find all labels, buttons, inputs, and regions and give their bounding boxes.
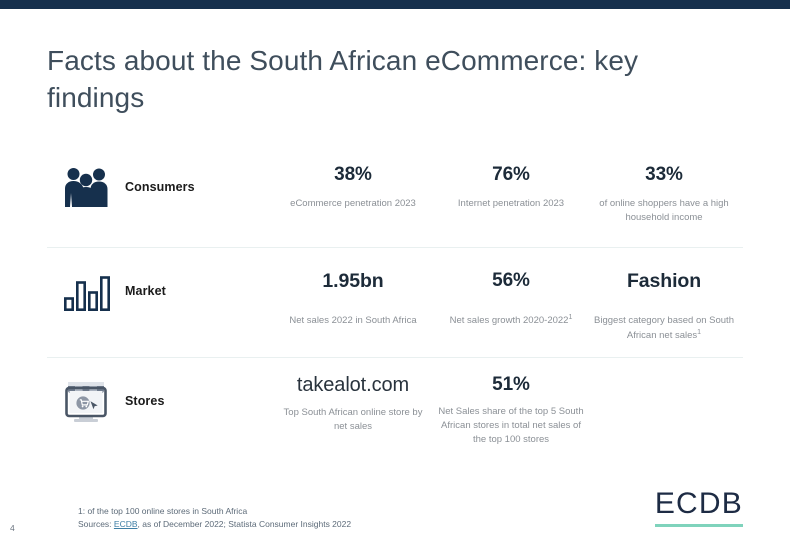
stat-cell-internet-penetration: 76% Internet penetration 2023 — [437, 152, 585, 211]
stat-cell-high-household-income: 33% of online shoppers have a high house… — [585, 152, 743, 225]
sources-line: Sources: ECDB, as of December 2022; Stat… — [78, 518, 351, 531]
stat-caption: Biggest category based on South African … — [585, 314, 743, 343]
fact-row-market: Market 1.95bn Net sales 2022 in South Af… — [47, 248, 743, 358]
stat-cell-biggest-category: Fashion Biggest category based on South … — [585, 248, 743, 343]
fact-row-stores: Stores takealot.com Top South African on… — [47, 358, 743, 462]
row-label-consumers: Consumers — [125, 180, 195, 194]
stat-caption: Internet penetration 2023 — [437, 197, 585, 211]
stat-cell-top-store: takealot.com Top South African online st… — [269, 358, 437, 434]
stat-caption: of online shoppers have a high household… — [585, 197, 743, 225]
stat-caption-footnote: 1 — [568, 314, 572, 321]
stat-value: 38% — [269, 164, 437, 186]
sources-suffix: , as of December 2022; Statista Consumer… — [138, 519, 352, 529]
fact-row-consumers: Consumers 38% eCommerce penetration 2023… — [47, 152, 743, 248]
stat-caption-text: Biggest category based on South African … — [594, 315, 734, 341]
page-number: 4 — [10, 523, 15, 533]
stat-value: 1.95bn — [269, 270, 437, 293]
stat-caption: Top South African online store by net sa… — [269, 406, 437, 434]
page-title: Facts about the South African eCommerce:… — [47, 43, 687, 117]
row-label-stores: Stores — [125, 394, 165, 408]
stat-cell-net-sales-2022: 1.95bn Net sales 2022 in South Africa — [269, 248, 437, 328]
stat-cell-ecommerce-penetration: 38% eCommerce penetration 2023 — [269, 152, 437, 211]
ecdb-logo-text: ECDB — [655, 489, 743, 519]
stat-value: 76% — [437, 164, 585, 186]
stat-caption: Net sales 2022 in South Africa — [269, 314, 437, 328]
row-label-cell-consumers: Consumers — [47, 152, 269, 208]
row-label-cell-market: Market — [47, 248, 269, 312]
stat-caption: Net sales growth 2020-20221 — [437, 313, 585, 328]
ecdb-logo-underline — [655, 524, 743, 527]
facts-table: Consumers 38% eCommerce penetration 2023… — [47, 152, 743, 462]
sources-ecdb-link[interactable]: ECDB — [114, 519, 138, 529]
stat-caption-footnote: 1 — [697, 329, 701, 336]
stat-value: 56% — [437, 270, 585, 292]
footnote-line: 1: of the top 100 online stores in South… — [78, 505, 351, 518]
footer-notes: 1: of the top 100 online stores in South… — [78, 505, 351, 531]
row-label-cell-stores: Stores — [47, 358, 269, 424]
people-group-icon — [47, 166, 125, 208]
stat-value: 51% — [437, 374, 585, 396]
stat-value: takealot.com — [269, 374, 437, 397]
stat-value: Fashion — [585, 270, 743, 293]
online-store-icon — [47, 378, 125, 424]
stat-cell-top5-share: 51% Net Sales share of the top 5 South A… — [437, 358, 585, 446]
stat-cell-net-sales-growth: 56% Net sales growth 2020-20221 — [437, 248, 585, 328]
top-accent-bar — [0, 0, 790, 9]
bar-chart-icon — [47, 270, 125, 312]
row-label-market: Market — [125, 284, 166, 298]
ecdb-logo: ECDB — [655, 489, 743, 527]
stat-value: 33% — [585, 164, 743, 186]
stat-caption: eCommerce penetration 2023 — [269, 197, 437, 211]
sources-prefix: Sources: — [78, 519, 114, 529]
stat-caption-text: Net sales growth 2020-2022 — [450, 315, 569, 326]
stat-caption: Net Sales share of the top 5 South Afric… — [437, 405, 585, 446]
stat-cell-empty — [585, 358, 743, 374]
